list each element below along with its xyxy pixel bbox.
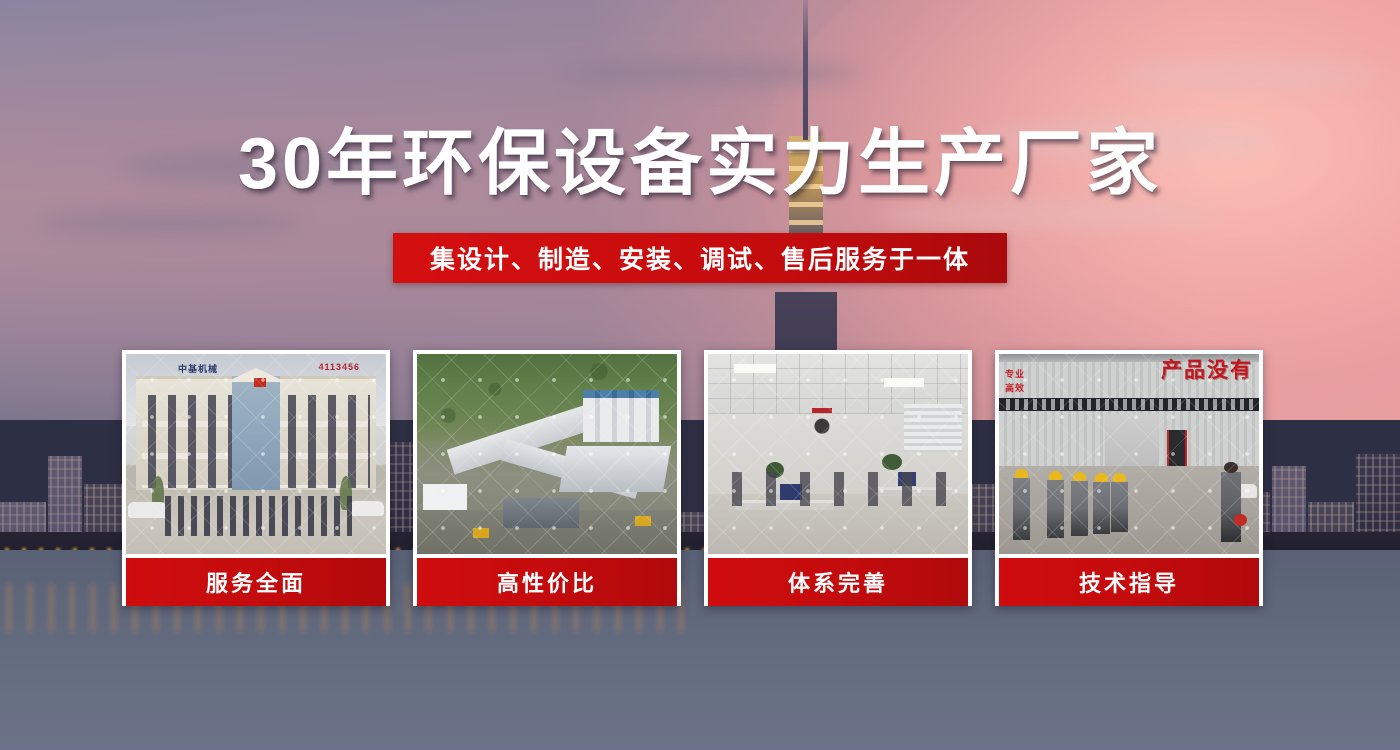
card-photo-company-building: 中基机械 4113456 <box>126 354 386 554</box>
feature-card[interactable]: 中基机械 4113456 服务全面 <box>122 350 390 606</box>
card-caption-text: 服务全面 <box>206 566 306 598</box>
feature-card-list: 中基机械 4113456 服务全面 <box>122 350 1278 606</box>
card-caption-bar: 体系完善 <box>708 558 968 606</box>
promo-banner: 30年环保设备实力生产厂家 集设计、制造、安装、调试、售后服务于一体 中基机械 … <box>0 0 1400 750</box>
site-office <box>423 484 467 510</box>
factory-window-band <box>999 398 1259 411</box>
worker <box>1071 481 1088 536</box>
subtitle-banner: 集设计、制造、安装、调试、售后服务于一体 <box>393 233 1007 283</box>
factory-entry-door <box>1167 430 1187 466</box>
card-caption-bar: 服务全面 <box>126 558 386 606</box>
wall-decal <box>804 410 840 436</box>
factory-wall-slogan-small: 专业高效 <box>1005 368 1025 395</box>
ceiling-light <box>734 364 776 373</box>
storage-silos <box>583 396 659 442</box>
card-photo-industrial-plant <box>417 354 677 554</box>
subtitle-text: 集设计、制造、安装、调试、售后服务于一体 <box>430 240 970 276</box>
excavator <box>635 516 651 526</box>
plant-hall <box>559 446 671 492</box>
card-photo-office-interior <box>708 354 968 554</box>
building-glass-atrium <box>232 376 280 500</box>
supervisor <box>1221 472 1241 542</box>
factory-wall-slogan: 产品没有 <box>1161 360 1253 381</box>
tower-antenna <box>803 0 808 140</box>
card-caption-bar: 技术指导 <box>999 558 1259 606</box>
ceiling-light <box>884 378 924 387</box>
card-caption-bar: 高性价比 <box>417 558 677 606</box>
feature-card[interactable]: 体系完善 <box>704 350 972 606</box>
building-sign-logo: 中基机械 <box>178 362 218 375</box>
factory-shutter-door <box>1105 414 1159 466</box>
red-helmet <box>1234 514 1247 526</box>
cloud <box>560 60 860 86</box>
tower-light-band <box>789 220 823 225</box>
worker <box>1047 480 1064 538</box>
staff-lineup <box>162 496 352 536</box>
page-title: 30年环保设备实力生产厂家 <box>0 128 1400 200</box>
worker <box>1111 482 1128 532</box>
cloud <box>880 200 1220 230</box>
worker <box>1093 482 1110 534</box>
card-caption-text: 体系完善 <box>788 566 888 598</box>
cloud <box>1120 60 1380 90</box>
potted-plant <box>882 454 902 470</box>
card-caption-text: 高性价比 <box>497 566 597 598</box>
flag-icon <box>254 378 266 387</box>
card-photo-factory-workers: 产品没有 专业高效 <box>999 354 1259 554</box>
plant-shed <box>503 498 579 528</box>
building-sign-phone: 4113456 <box>318 362 360 372</box>
parked-car <box>348 501 384 516</box>
factory-yard <box>999 466 1259 554</box>
feature-card[interactable]: 高性价比 <box>413 350 681 606</box>
feature-card[interactable]: 产品没有 专业高效 技术指导 <box>995 350 1263 606</box>
office-staff <box>720 472 950 506</box>
worker <box>1013 478 1030 540</box>
excavator <box>473 528 489 538</box>
window-blinds <box>904 404 962 452</box>
card-caption-text: 技术指导 <box>1079 566 1179 598</box>
